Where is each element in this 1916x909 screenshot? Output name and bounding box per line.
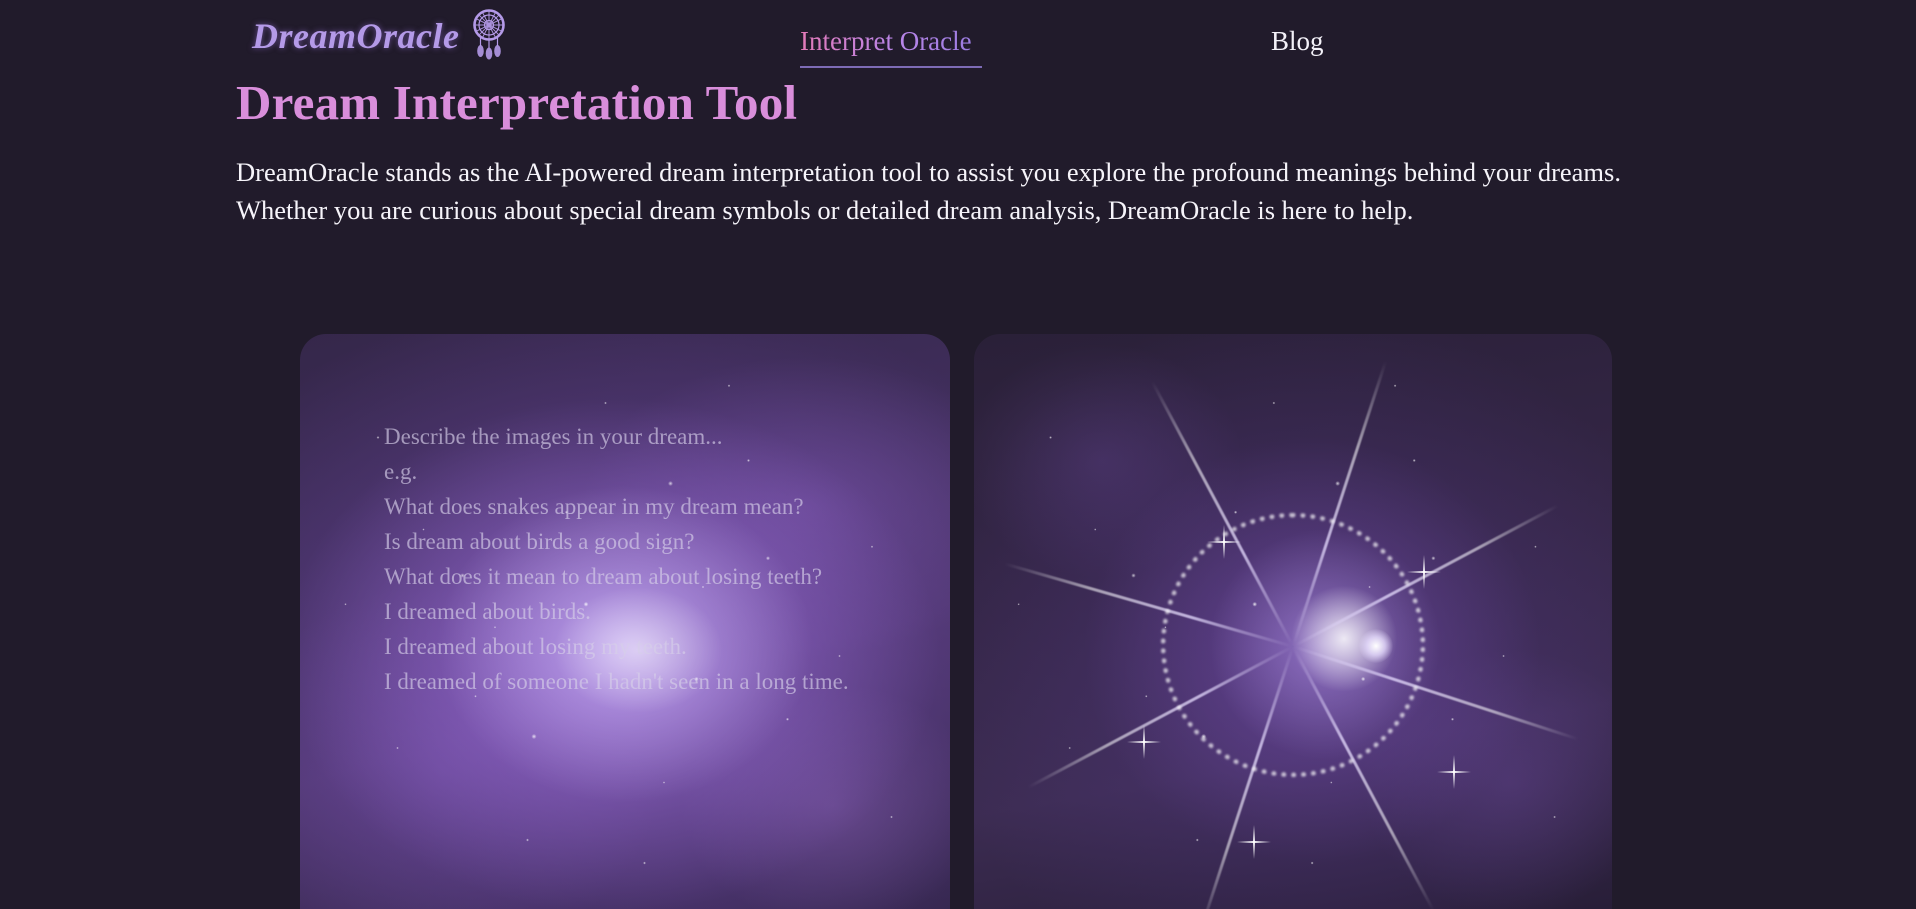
nav-item-interpret-oracle[interactable]: Interpret Oracle (800, 28, 972, 66)
panels-row (0, 334, 1916, 909)
dream-description-input[interactable] (300, 334, 950, 909)
hero-section: Dream Interpretation Tool DreamOracle st… (236, 78, 1736, 229)
nav-item-blog[interactable]: Blog (1271, 28, 1324, 55)
site-header: DreamOracle (0, 0, 1916, 78)
main-nav: Interpret Oracle Blog (0, 0, 1916, 78)
dream-image-panel (974, 334, 1612, 909)
hero-paragraph-2: Whether you are curious about special dr… (236, 192, 1656, 230)
nav-active-underline (800, 66, 982, 68)
hero-paragraph-1: DreamOracle stands as the AI-powered dre… (236, 154, 1656, 192)
page-title: Dream Interpretation Tool (236, 76, 1736, 130)
hero-description: DreamOracle stands as the AI-powered dre… (236, 154, 1656, 229)
dream-input-panel[interactable] (300, 334, 950, 909)
